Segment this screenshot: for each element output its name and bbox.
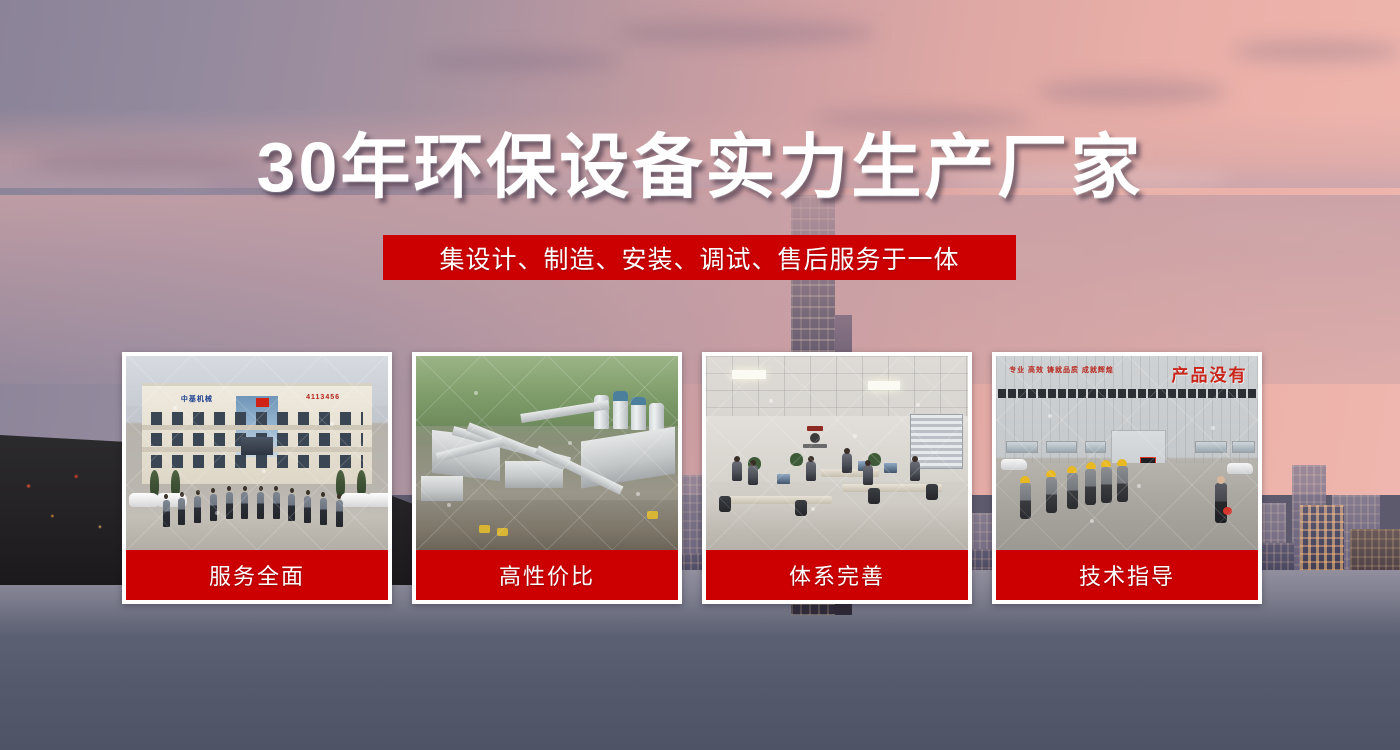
wall-decal bbox=[800, 426, 830, 450]
factory-sign-text: 产品没有 bbox=[1172, 361, 1248, 386]
card-photo-industrial-plant bbox=[416, 356, 678, 550]
card-caption: 服务全面 bbox=[126, 550, 388, 600]
feature-card[interactable]: 中基机械 4113456 bbox=[122, 352, 392, 604]
subtitle-text: 集设计、制造、安装、调试、售后服务于一体 bbox=[439, 240, 959, 276]
card-photo-office-building: 中基机械 4113456 bbox=[126, 356, 388, 550]
page-title: 30年环保设备实力生产厂家 bbox=[0, 132, 1400, 202]
feature-card-row: 中基机械 4113456 bbox=[122, 352, 1278, 604]
card-caption: 技术指导 bbox=[996, 550, 1258, 600]
card-photo-phone-number: 4113456 bbox=[306, 394, 340, 401]
feature-card[interactable]: 产品没有 专业 高效 铸就品质 成就辉煌 bbox=[992, 352, 1262, 604]
card-caption: 高性价比 bbox=[416, 550, 678, 600]
feature-card[interactable]: 高性价比 bbox=[412, 352, 682, 604]
factory-slogan-text: 专业 高效 铸就品质 成就辉煌 bbox=[1009, 366, 1114, 377]
feature-card: 体系完善 bbox=[702, 352, 972, 604]
card-photo-factory-workers: 产品没有 专业 高效 铸就品质 成就辉煌 bbox=[996, 356, 1258, 550]
card-caption: 体系完善 bbox=[706, 550, 968, 600]
window-blinds bbox=[910, 414, 962, 468]
card-photo-company-sign: 中基机械 bbox=[181, 394, 213, 404]
subtitle-banner: 集设计、制造、安装、调试、售后服务于一体 bbox=[383, 235, 1016, 280]
card-photo-office-interior bbox=[706, 356, 968, 550]
promotional-banner: 30年环保设备实力生产厂家 集设计、制造、安装、调试、售后服务于一体 bbox=[0, 0, 1400, 750]
